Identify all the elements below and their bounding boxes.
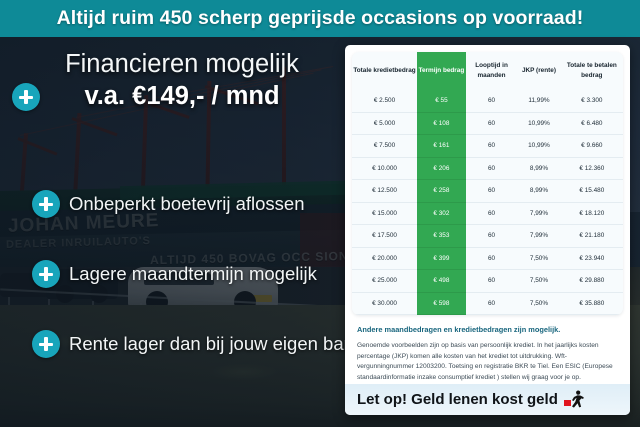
table-head: Totale kredietbedrag Termijn bedrag Loop…: [352, 52, 623, 90]
column-header-jkp: JKP (rente): [517, 52, 560, 90]
table-cell: 10,99%: [517, 112, 560, 135]
table-cell: € 598: [417, 292, 466, 315]
table-cell: € 399: [417, 247, 466, 270]
table-cell: 60: [466, 292, 517, 315]
column-header-total-credit: Totale kredietbedrag: [352, 52, 417, 90]
table-cell: € 55: [417, 90, 466, 112]
table-cell: € 21.180: [561, 225, 623, 248]
table-row: € 15.000€ 302607,99%€ 18.120: [352, 202, 623, 225]
plus-circle-icon: [32, 330, 60, 358]
plus-circle-icon: [32, 260, 60, 288]
table-body: € 2.500€ 556011,99%€ 3.300€ 5.000€ 10860…: [352, 90, 623, 315]
table-cell: € 2.500: [352, 90, 417, 112]
feature-item-label: Rente lager dan bij jouw eigen bank: [69, 333, 363, 355]
table-cell: 7,50%: [517, 270, 560, 293]
table-cell: € 25.000: [352, 270, 417, 293]
table-cell: € 20.000: [352, 247, 417, 270]
table-cell: € 17.500: [352, 225, 417, 248]
feature-item-3: Rente lager dan bij jouw eigen bank: [32, 330, 363, 358]
table-cell: € 30.000: [352, 292, 417, 315]
table-cell: 7,50%: [517, 292, 560, 315]
table-cell: € 15.480: [561, 180, 623, 203]
disclaimer-body: Genoemde voorbeelden zijn op basis van p…: [357, 341, 618, 384]
column-header-total-payable: Totale te betalen bedrag: [561, 52, 623, 90]
table-row: € 10.000€ 206608,99%€ 12.360: [352, 157, 623, 180]
table-cell: € 498: [417, 270, 466, 293]
table-cell: € 6.480: [561, 112, 623, 135]
table-cell: 8,99%: [517, 180, 560, 203]
table-cell: 60: [466, 180, 517, 203]
promo-banner-stage: DEALER INRUILAUTO'S JOHAN MEURE ALTIJD 4…: [0, 0, 640, 427]
table-header-row: Totale kredietbedrag Termijn bedrag Loop…: [352, 52, 623, 90]
table-cell: 11,99%: [517, 90, 560, 112]
table-cell: 7,99%: [517, 202, 560, 225]
column-header-duration: Looptijd in maanden: [466, 52, 517, 90]
financing-card: Totale kredietbedrag Termijn bedrag Loop…: [345, 45, 630, 415]
plus-circle-icon: [32, 190, 60, 218]
table-row: € 17.500€ 353607,99%€ 21.180: [352, 225, 623, 248]
financing-table-wrap: Totale kredietbedrag Termijn bedrag Loop…: [352, 52, 623, 315]
table-cell: 60: [466, 225, 517, 248]
feature-item-label: Onbeperkt boetevrij aflossen: [69, 193, 305, 215]
feature-hero-line1: Financieren mogelijk: [65, 50, 299, 79]
table-cell: € 15.000: [352, 202, 417, 225]
table-cell: € 18.120: [561, 202, 623, 225]
feature-list: Financieren mogelijk v.a. €149,- / mnd O…: [0, 42, 350, 427]
warning-bar: Let op! Geld lenen kost geld: [345, 384, 630, 415]
feature-hero-line2: v.a. €149,- / mnd: [84, 82, 279, 111]
table-cell: € 302: [417, 202, 466, 225]
table-cell: 60: [466, 157, 517, 180]
table-cell: 60: [466, 90, 517, 112]
table-cell: € 29.880: [561, 270, 623, 293]
table-cell: € 5.000: [352, 112, 417, 135]
plus-circle-icon: [12, 83, 40, 111]
disclaimer: Andere maandbedragen en kredietbedragen …: [345, 315, 630, 383]
table-cell: € 35.880: [561, 292, 623, 315]
financing-table: Totale kredietbedrag Termijn bedrag Loop…: [352, 52, 623, 315]
table-cell: € 161: [417, 135, 466, 158]
feature-item-label: Lagere maandtermijn mogelijk: [69, 263, 317, 285]
running-man-exit-icon: [564, 390, 584, 408]
table-cell: € 258: [417, 180, 466, 203]
feature-item-2: Lagere maandtermijn mogelijk: [32, 260, 317, 288]
table-cell: 60: [466, 135, 517, 158]
table-cell: € 7.500: [352, 135, 417, 158]
table-row: € 20.000€ 399607,50%€ 23.940: [352, 247, 623, 270]
table-cell: € 10.000: [352, 157, 417, 180]
table-row: € 7.500€ 1616010,99%€ 9.660: [352, 135, 623, 158]
table-row: € 5.000€ 1086010,99%€ 6.480: [352, 112, 623, 135]
table-cell: 60: [466, 247, 517, 270]
warning-text: Let op! Geld lenen kost geld: [357, 391, 558, 408]
table-cell: 60: [466, 112, 517, 135]
table-cell: € 3.300: [561, 90, 623, 112]
table-cell: € 206: [417, 157, 466, 180]
table-cell: 7,99%: [517, 225, 560, 248]
table-cell: 7,50%: [517, 247, 560, 270]
table-row: € 2.500€ 556011,99%€ 3.300: [352, 90, 623, 112]
table-cell: € 9.660: [561, 135, 623, 158]
table-cell: € 353: [417, 225, 466, 248]
top-banner: Altijd ruim 450 scherp geprijsde occasio…: [0, 0, 640, 37]
table-cell: € 12.500: [352, 180, 417, 203]
feature-item-1: Onbeperkt boetevrij aflossen: [32, 190, 305, 218]
table-cell: € 108: [417, 112, 466, 135]
table-cell: 60: [466, 270, 517, 293]
disclaimer-title: Andere maandbedragen en kredietbedragen …: [357, 325, 618, 335]
table-cell: € 23.940: [561, 247, 623, 270]
table-row: € 30.000€ 598607,50%€ 35.880: [352, 292, 623, 315]
table-cell: € 12.360: [561, 157, 623, 180]
top-banner-text: Altijd ruim 450 scherp geprijsde occasio…: [57, 7, 584, 30]
table-cell: 8,99%: [517, 157, 560, 180]
table-cell: 10,99%: [517, 135, 560, 158]
table-row: € 25.000€ 498607,50%€ 29.880: [352, 270, 623, 293]
table-row: € 12.500€ 258608,99%€ 15.480: [352, 180, 623, 203]
column-header-monthly-amount: Termijn bedrag: [417, 52, 466, 90]
table-cell: 60: [466, 202, 517, 225]
feature-hero: Financieren mogelijk v.a. €149,- / mnd: [12, 50, 352, 111]
